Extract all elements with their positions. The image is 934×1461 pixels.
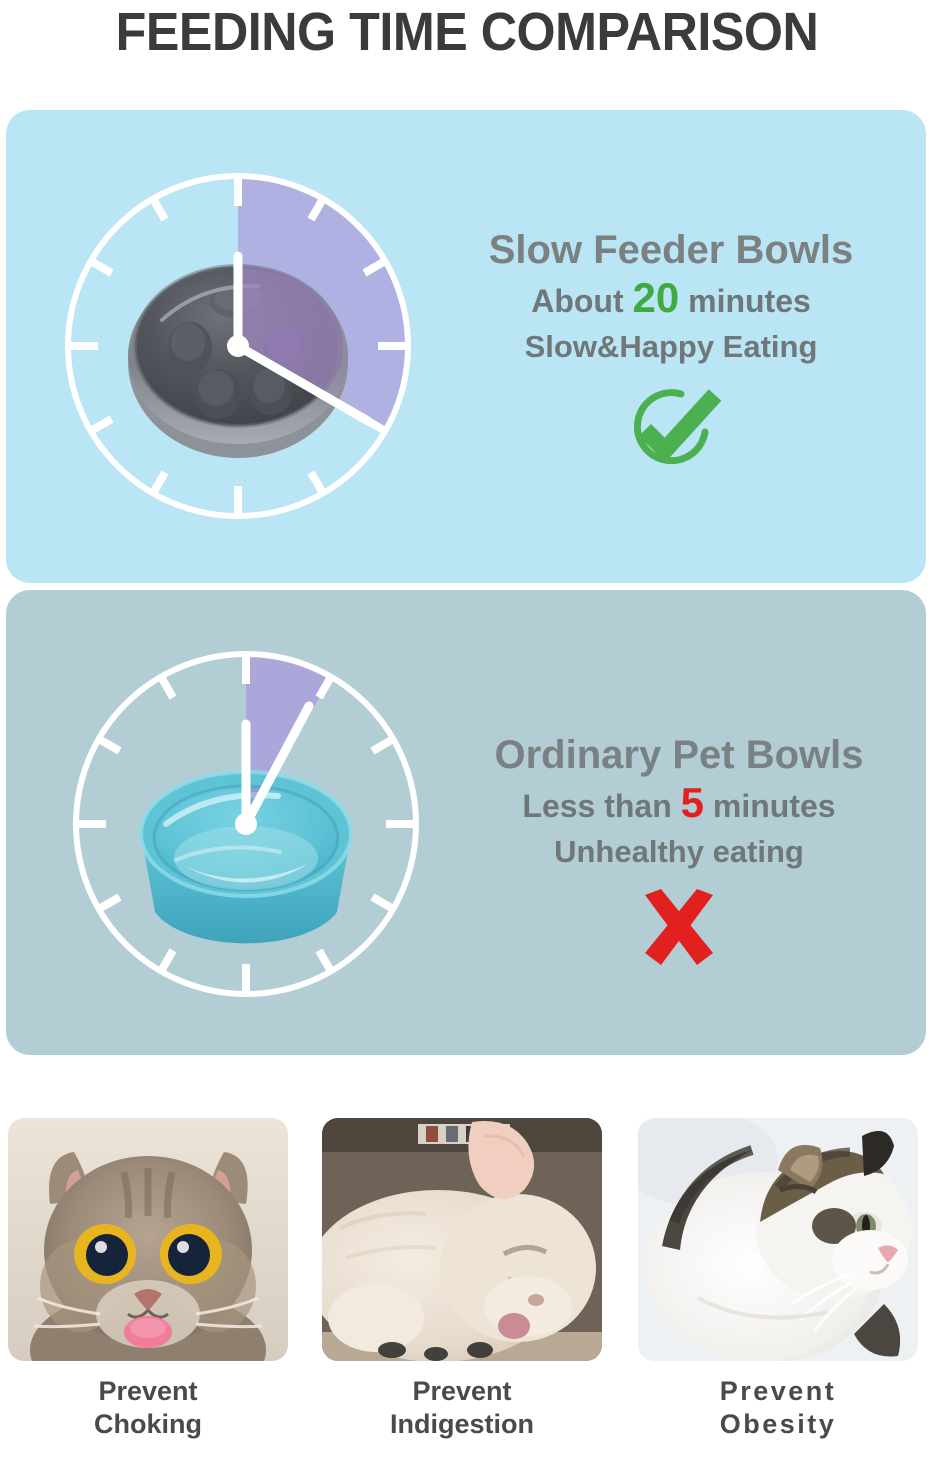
panel-slow-feeder: Slow Feeder Bowls About 20 minutes Slow&… (6, 110, 926, 583)
benefits-row: Prevent Choking (0, 1118, 934, 1461)
caption-indigestion: Prevent Indigestion (322, 1375, 602, 1441)
slow-feeder-description: Slow&Happy Eating (426, 324, 916, 370)
photo-obese-cat (638, 1118, 918, 1361)
benefit-card-indigestion: Prevent Indigestion (322, 1118, 602, 1441)
ordinary-bowl-time-line: Less than 5 minutes (434, 780, 924, 829)
ordinary-bowl-description: Unhealthy eating (434, 829, 924, 875)
caption-obesity-line1: Prevent (638, 1375, 918, 1408)
photo-surprised-tabby-cat (8, 1118, 288, 1361)
cream-cat-lying-image (322, 1118, 602, 1361)
slow-feeder-time-value: 20 (633, 274, 680, 321)
infographic-page: FEEDING TIME COMPARISON (0, 0, 934, 1461)
caption-choking-line2: Choking (8, 1408, 288, 1441)
surprised-tabby-cat-image (8, 1118, 288, 1361)
clock-ordinary-bowl (56, 628, 436, 1018)
ordinary-bowl-text-block: Ordinary Pet Bowls Less than 5 minutes U… (434, 730, 924, 975)
check-circle-icon (426, 382, 916, 472)
ordinary-bowl-time-unit: minutes (713, 788, 836, 824)
clock-center-pin (227, 335, 249, 357)
slow-feeder-time-unit: minutes (688, 283, 811, 319)
panel-ordinary-bowl: Ordinary Pet Bowls Less than 5 minutes U… (6, 590, 926, 1055)
caption-indigestion-line1: Prevent (322, 1375, 602, 1408)
clock-face-slow (58, 160, 418, 532)
slow-feeder-time-prefix: About (531, 283, 623, 319)
photo-cream-cat-petted (322, 1118, 602, 1361)
caption-indigestion-line2: Indigestion (322, 1408, 602, 1441)
ordinary-bowl-time-value: 5 (681, 779, 704, 826)
caption-choking: Prevent Choking (8, 1375, 288, 1441)
ordinary-bowl-time-prefix: Less than (522, 788, 671, 824)
clock-slow-feeder (58, 160, 418, 532)
clock-face-ordinary (56, 628, 436, 1018)
caption-obesity: Prevent Obesity (638, 1375, 918, 1441)
caption-obesity-line2: Obesity (638, 1408, 918, 1441)
ordinary-bowl-headline: Ordinary Pet Bowls (434, 730, 924, 780)
caption-choking-line1: Prevent (8, 1375, 288, 1408)
benefit-card-obesity: Prevent Obesity (638, 1118, 918, 1441)
cross-mark-icon (434, 887, 924, 975)
obese-white-tabby-cat-image (638, 1118, 918, 1361)
page-title: FEEDING TIME COMPARISON (33, 2, 902, 62)
benefit-card-choking: Prevent Choking (8, 1118, 288, 1441)
slow-feeder-time-line: About 20 minutes (426, 275, 916, 324)
slow-feeder-headline: Slow Feeder Bowls (426, 225, 916, 275)
clock-center-pin (235, 813, 257, 835)
slow-feeder-text-block: Slow Feeder Bowls About 20 minutes Slow&… (426, 225, 916, 472)
